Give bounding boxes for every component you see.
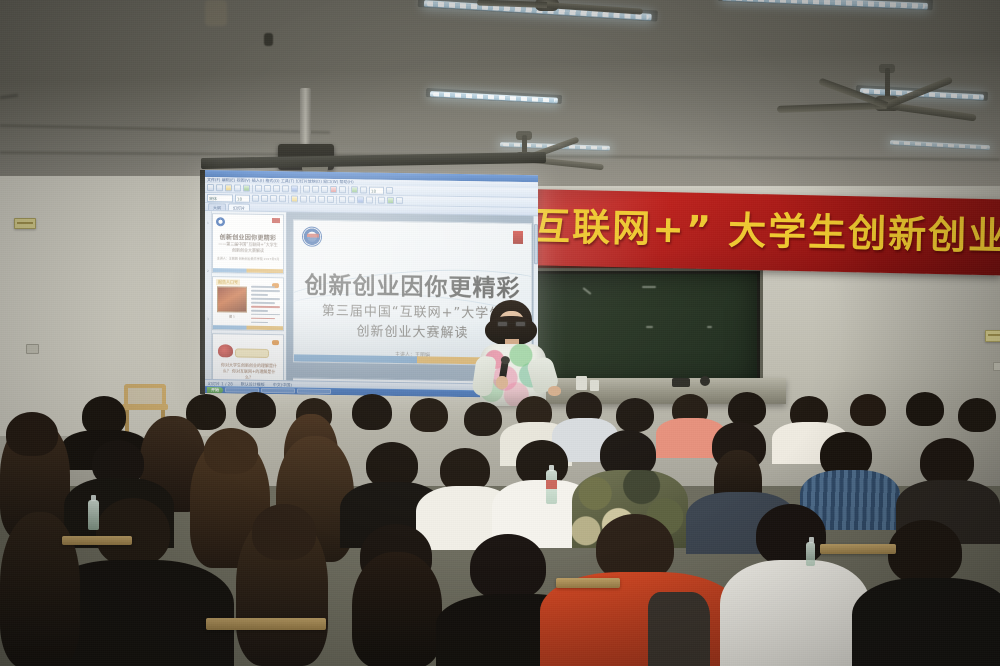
- ceiling-hook: [264, 33, 273, 46]
- fan-blade: [887, 102, 977, 121]
- slide-thumbnail-2[interactable]: 报告人口号 图 1: [212, 276, 284, 331]
- audience-shoulders: [852, 578, 1000, 666]
- bench-seat-back: [206, 618, 326, 630]
- audience-head: [850, 394, 886, 426]
- slide-number: 2: [205, 269, 211, 273]
- fluorescent-tube-light: [890, 140, 990, 150]
- audience-long-hair: [352, 552, 442, 666]
- help-icon[interactable]: [386, 187, 393, 194]
- slideshow-icon[interactable]: [351, 186, 358, 193]
- new-icon[interactable]: [207, 184, 214, 191]
- audience-head: [252, 504, 316, 560]
- text-line: [251, 322, 268, 324]
- bench-seat-back: [62, 536, 132, 545]
- shadow-icon[interactable]: [279, 195, 286, 202]
- desk-object: [700, 376, 710, 386]
- font-name-combo[interactable]: 宋体: [207, 194, 233, 202]
- slide-thumbnail-3[interactable]: 你对大学生创新创业的理解是什么？ 你对互联网+的理解是什么？: [212, 333, 284, 380]
- increase-font-icon[interactable]: [339, 196, 346, 203]
- slide-thumbnail-pane[interactable]: 1 2 3 创新创业因你更精彩 ——第三届中国“互联网+”大学生 创新创业大赛解…: [205, 211, 287, 380]
- spelling-icon[interactable]: [255, 185, 262, 192]
- italic-icon[interactable]: [261, 195, 268, 202]
- thumb2-heading: 报告人口号: [216, 279, 240, 285]
- presenter-left-hand: [496, 376, 508, 389]
- tab-slides[interactable]: 幻灯片: [228, 203, 250, 210]
- water-bottle: [806, 542, 815, 566]
- audience-head: [352, 394, 392, 430]
- bullets-icon[interactable]: [318, 196, 325, 203]
- chalk-mark: [646, 326, 653, 328]
- paste-icon[interactable]: [282, 185, 289, 192]
- thumb-accent-bar: [213, 325, 283, 330]
- sign-stripe: [17, 222, 33, 224]
- thumb3-decor-icon: [218, 344, 233, 357]
- exit-sign-left: [14, 218, 36, 229]
- text-line: [251, 314, 280, 316]
- tab-outline[interactable]: 大纲: [208, 203, 226, 210]
- fluorescent-tube-light: [722, 0, 928, 10]
- school-logo-icon: [302, 227, 322, 247]
- projector-mount-pole: [300, 88, 311, 146]
- glasses-bridge: [508, 323, 515, 324]
- blackboard-surface: [524, 274, 757, 387]
- thumb3-badge: [272, 340, 279, 345]
- redo-icon[interactable]: [312, 186, 319, 193]
- design-icon[interactable]: [360, 186, 367, 193]
- ceiling-seam: [0, 125, 330, 134]
- thumb-accent-bar: [213, 268, 283, 273]
- numbering-icon[interactable]: [327, 196, 334, 203]
- wall-outlet: [26, 344, 39, 354]
- audience-head: [410, 398, 448, 432]
- toolbar-separator: [300, 185, 301, 193]
- thumb2-photo: [217, 286, 247, 312]
- thumb-byline: 主讲人：王丽娟 创新创业教育学院 2017年5月: [213, 256, 283, 261]
- audience-head: [756, 504, 826, 566]
- event-banner: 互联网+” 大学生创新创业报告会: [523, 189, 1000, 275]
- chalk-mark: [582, 287, 591, 295]
- decrease-font-icon[interactable]: [348, 196, 355, 203]
- slide-number: 1: [205, 221, 211, 225]
- audience-seating: [0, 392, 1000, 666]
- save-icon[interactable]: [225, 184, 232, 191]
- thumb3-speech-bubble: [235, 348, 269, 358]
- bench-seat-back: [820, 544, 896, 554]
- fan-blade: [777, 102, 887, 113]
- toolbar-separator: [252, 184, 253, 192]
- format-painter-icon[interactable]: [291, 185, 298, 192]
- bench-seat-back: [556, 578, 620, 588]
- align-center-icon[interactable]: [300, 195, 307, 202]
- slide-layout-icon[interactable]: [396, 197, 403, 204]
- sign-stripe: [988, 334, 1000, 336]
- audience-head: [906, 392, 944, 426]
- audience-backpack: [648, 592, 710, 666]
- audience-head: [6, 412, 58, 456]
- thumb2-body-text: [251, 286, 280, 326]
- audience-white-shirt: [720, 560, 870, 666]
- lecture-hall-photo: 互联网+” 大学生创新创业报告会 文件(F) 编辑(E) 视图(V) 插入(I)…: [0, 0, 1000, 666]
- font-size-combo[interactable]: 18: [235, 194, 250, 202]
- thumb2-caption: 图 1: [217, 314, 247, 318]
- slide-red-mark: [272, 218, 280, 223]
- toolbar-separator: [288, 195, 289, 203]
- insert-chart-icon[interactable]: [330, 186, 337, 193]
- hyperlink-icon[interactable]: [339, 186, 346, 193]
- new-slide-icon[interactable]: [378, 197, 385, 204]
- text-line-highlight: [251, 318, 275, 320]
- ceiling-patch: [205, 0, 227, 26]
- print-icon[interactable]: [234, 184, 241, 191]
- chalk-mark: [642, 286, 656, 288]
- ceiling-projector: [300, 88, 310, 98]
- banner-text: 互联网+” 大学生创新创业报告会: [532, 199, 999, 263]
- audience-head: [920, 438, 974, 486]
- slide-thumbnail-1[interactable]: 创新创业因你更精彩 ——第三届中国“互联网+”大学生 创新创业大赛解读 主讲人：…: [212, 213, 284, 274]
- ceiling-fan: [885, 68, 889, 72]
- slide-number: 3: [205, 317, 211, 321]
- underline-icon[interactable]: [270, 195, 277, 202]
- audience-head: [204, 428, 258, 474]
- thumb-subtitle-2: 创新创业大赛解读: [213, 247, 283, 254]
- desk-cup: [576, 376, 587, 390]
- text-line: [251, 298, 280, 300]
- audience-head: [958, 398, 996, 432]
- audience-head: [728, 392, 766, 426]
- glasses-lens-left: [497, 321, 508, 327]
- text-line: [251, 290, 280, 292]
- line-spacing-icon[interactable]: [366, 197, 373, 204]
- undo-icon[interactable]: [303, 186, 310, 193]
- copy-icon[interactable]: [273, 185, 280, 192]
- cut-icon[interactable]: [264, 185, 271, 192]
- slide-number-gutter: 1 2 3: [205, 211, 212, 379]
- align-right-icon[interactable]: [309, 196, 316, 203]
- slide-title: 创新创业因你更精彩: [294, 272, 531, 302]
- ceiling-fan: [522, 135, 526, 139]
- audience-head: [616, 398, 654, 432]
- audience-head: [470, 534, 546, 600]
- notice-sign-right: [985, 330, 1000, 342]
- zoom-combo[interactable]: 18: [369, 186, 384, 194]
- audience-head: [888, 520, 962, 584]
- text-line: [251, 286, 275, 288]
- toolbar-separator: [348, 186, 349, 194]
- text-line: [251, 294, 268, 296]
- bold-icon[interactable]: [252, 195, 259, 202]
- thumb3-text: 你对大学生创新创业的理解是什么？ 你对互联网+的理解是什么？: [219, 362, 279, 380]
- presenter: [468, 300, 558, 405]
- toolbar-separator: [375, 196, 376, 204]
- water-bottle: [88, 500, 99, 530]
- open-icon[interactable]: [216, 184, 223, 191]
- wall-outlet: [993, 362, 1000, 371]
- school-logo-icon: [216, 217, 225, 226]
- slide-design-icon[interactable]: [387, 197, 394, 204]
- text-line: [251, 310, 268, 312]
- print-preview-icon[interactable]: [243, 185, 250, 192]
- water-bottle: [546, 470, 557, 504]
- glasses-lens-right: [515, 321, 526, 327]
- slide-red-mark: [513, 231, 523, 244]
- align-left-icon[interactable]: [291, 195, 298, 202]
- scrollbar-thumb[interactable]: [534, 224, 538, 264]
- text-line-highlight: [251, 306, 280, 308]
- glasses-icon: [497, 321, 526, 327]
- audience-head: [96, 498, 170, 566]
- audience-head: [236, 392, 276, 428]
- insert-table-icon[interactable]: [321, 186, 328, 193]
- toolbar-separator: [336, 196, 337, 204]
- ceiling-seam: [0, 94, 18, 99]
- desk-cup: [590, 380, 599, 391]
- font-color-icon[interactable]: [357, 196, 364, 203]
- desk-object: [672, 378, 690, 387]
- chalk-mark: [707, 326, 712, 328]
- text-line: [251, 302, 275, 304]
- audience-head: [464, 402, 502, 436]
